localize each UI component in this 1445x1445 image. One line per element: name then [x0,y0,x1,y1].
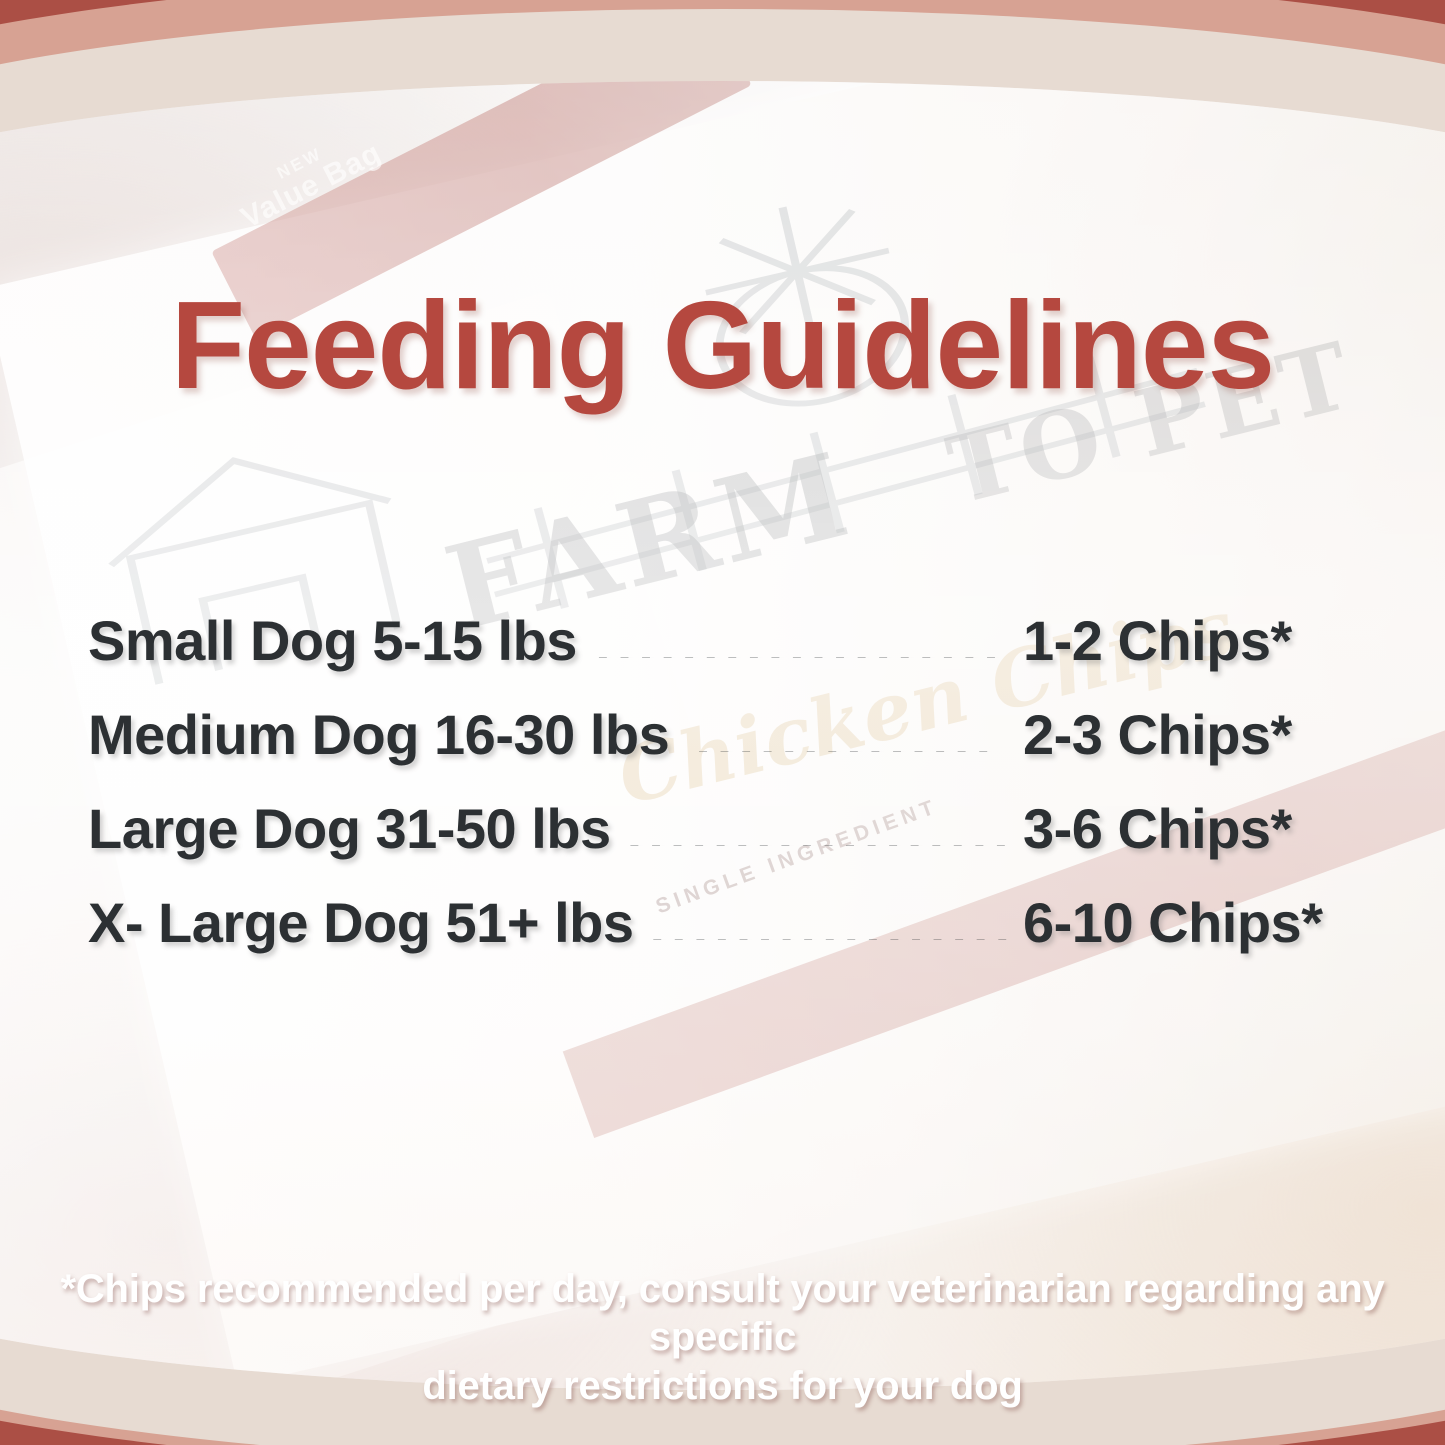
table-row: Large Dog 31-50 lbs .................. 3… [88,796,1375,890]
dot-leader: ................. [650,918,1008,940]
dog-size-label: Small Dog 5-15 lbs [88,608,577,673]
chips-amount: 1-2 Chips* [1023,608,1375,673]
table-row: Small Dog 5-15 lbs ................... 1… [88,608,1375,702]
dog-size-label: X- Large Dog 51+ lbs [88,890,634,955]
footnote-line-2: dietary restrictions for your dog [48,1362,1397,1411]
chips-amount: 6-10 Chips* [1023,890,1375,955]
dot-leader: .................. [627,824,1007,846]
page-title: Feeding Guidelines [14,275,1430,417]
footnote-line-1: *Chips recommended per day, consult your… [48,1265,1397,1363]
dot-leader: ................... [593,636,1007,658]
chips-amount: 2-3 Chips* [1023,702,1375,767]
footnote: *Chips recommended per day, consult your… [0,1265,1445,1411]
feeding-guidelines-card: FARM TO PET Chicken Chips NEW Value Bag … [0,0,1445,1445]
dot-leader: .............. [685,730,1007,752]
dog-size-label: Medium Dog 16-30 lbs [88,702,669,767]
chips-amount: 3-6 Chips* [1023,796,1375,861]
feeding-table: Small Dog 5-15 lbs ................... 1… [88,608,1375,984]
table-row: X- Large Dog 51+ lbs ................. 6… [88,890,1375,984]
dog-size-label: Large Dog 31-50 lbs [88,796,611,861]
content-layer: Feeding Guidelines Small Dog 5-15 lbs ..… [0,0,1445,1445]
table-row: Medium Dog 16-30 lbs .............. 2-3 … [88,702,1375,796]
